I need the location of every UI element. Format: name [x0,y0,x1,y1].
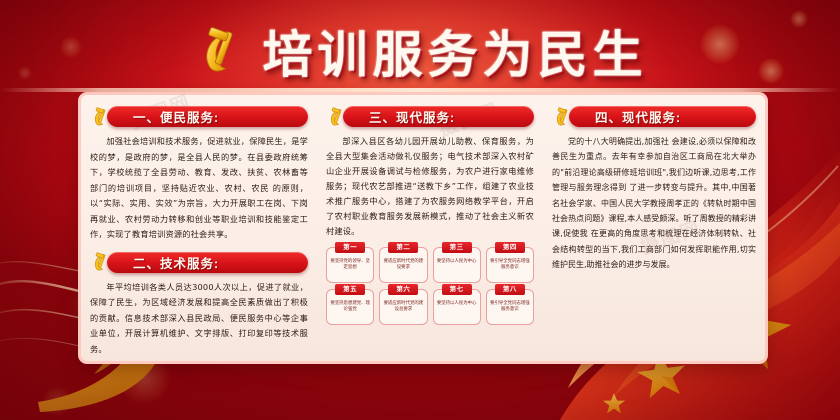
card-badge: 第六 [388,284,418,295]
card-text: 要坚持以人民为中心 [434,259,480,265]
card-text: 要引导全党同志增强服务意识 [487,259,533,272]
card-badge: 第一 [335,242,365,253]
section-body-4: 党的十八大明确提出,加强社 会建设,必须以保障和改善民生为重点。去年有幸参加自治… [552,134,756,273]
card-item[interactable]: 第八 要引导全党同志增强服务意识 [486,289,534,325]
section-pill-3[interactable]: 三、现代服务: [343,106,534,127]
card-badge: 第二 [388,242,418,253]
content-board: 摄图网 一、便民服务: 加强社会培训和技术服务，促进就业，保障民生，是学校的梦，… [78,92,768,364]
section-pill-2[interactable]: 二、技术服务: [107,252,308,273]
card-item[interactable]: 第六 要适应新时代党的建设总要求 [379,289,427,325]
page-title: 培训服务为民生 [263,15,648,87]
section-pill-4[interactable]: 四、现代服务: [569,106,756,127]
card-item[interactable]: 第五 要坚持思想建党、理论强党 [326,289,374,325]
section-body-2: 年平均培训各类人员达3000人次以上，促进了就业，保障了民生，为区域经济发展和提… [90,280,308,358]
card-badge: 第五 [335,284,365,295]
card-item[interactable]: 第四 要引导全党同志增强服务意识 [486,247,534,283]
column-left: 摄图网 一、便民服务: 加强社会培训和技术服务，促进就业，保障民生，是学校的梦，… [81,95,317,361]
card-text: 要适应新时代党的建设总要求 [380,301,426,314]
section-body-1: 加强社会培训和技术服务，促进就业，保障民生，是学校的梦，是政府的梦，是全县人民的… [90,134,308,243]
party-emblem-icon [326,106,349,128]
party-emblem-hammer-sickle-icon [193,22,253,80]
section-title-1: 一、便民服务: [133,107,219,126]
card-badge: 第七 [442,284,472,295]
card-badge: 第四 [495,242,525,253]
section-body-3: 部深入县区各幼儿园开展幼儿助教、保育服务，为全县大型集会活动做礼仪服务；电气技术… [326,134,534,239]
section-title-2: 二、技术服务: [133,253,219,272]
party-emblem-icon [90,251,113,273]
section-header-3: 三、现代服务: [326,105,534,128]
card-item[interactable]: 第七 要坚持以人民为中心 [433,289,481,325]
header-divider [0,88,840,92]
column-right: 摄图网 四、现代服务: 党的十八大明确提出,加强社 会建设,必须以保障和改善民生… [543,95,765,361]
card-text: 要坚持党的领导、坚定思想 [327,259,373,272]
card-badge: 第八 [495,284,525,295]
column-middle: 摄图网 三、现代服务: 部深入县区各幼儿园开展幼儿助教、保育服务，为全县大型集会… [317,95,543,361]
card-text: 要坚持思想建党、理论强党 [327,301,373,314]
card-text: 要适应新时代党的建设要求 [380,259,426,272]
section-title-4: 四、现代服务: [595,107,681,126]
card-item[interactable]: 第一 要坚持党的领导、坚定思想 [326,247,374,283]
card-text: 要引导全党同志增强服务意识 [487,301,533,314]
card-item[interactable]: 第二 要适应新时代党的建设要求 [379,247,427,283]
card-badge: 第三 [442,242,472,253]
section-header-4: 四、现代服务: [552,105,756,128]
section-header-1: 一、便民服务: [90,105,308,128]
card-text: 要坚持以人民为中心 [434,301,480,307]
section-pill-1[interactable]: 一、便民服务: [107,106,308,127]
section-header-2: 二、技术服务: [90,251,308,274]
bokeh-dot [42,386,72,416]
poster-canvas: 培训服务为民生 摄图网 一、便民服务: 加强社会培训和技术服务，促进就业，保障民… [0,0,840,420]
cards-grid: 第一 要坚持党的领导、坚定思想 第二 要适应新时代党的建设要求 第三 要坚持以人… [326,247,534,325]
section-title-3: 三、现代服务: [369,107,455,126]
card-item[interactable]: 第三 要坚持以人民为中心 [433,247,481,283]
party-emblem-icon [552,106,575,128]
party-emblem-icon [90,106,113,128]
poster-header: 培训服务为民生 [0,14,840,88]
